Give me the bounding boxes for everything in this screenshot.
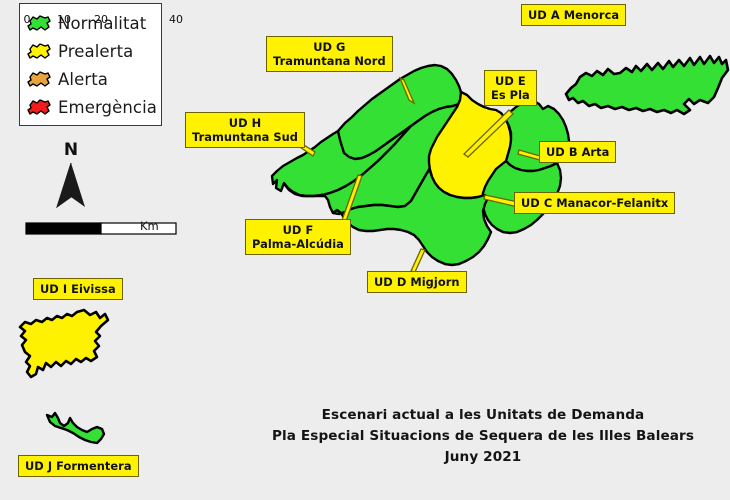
map-label-ud-c-manacor-felanitx[interactable]: UD C Manacor-Felanitx <box>514 192 675 214</box>
map-label-line: Es Pla <box>491 88 530 102</box>
map-title-line-2: Pla Especial Situacions de Sequera de le… <box>248 426 718 447</box>
map-label-line: Tramuntana Sud <box>192 130 298 144</box>
map-label-ud-j-formentera[interactable]: UD J Formentera <box>18 455 139 477</box>
map-label-ud-f-palma-alcudia[interactable]: UD F Palma-Alcúdia <box>245 219 351 255</box>
scalebar-tick-10: 10 <box>57 13 71 26</box>
map-label-ud-h-tramuntana-sud[interactable]: UD H Tramuntana Sud <box>185 112 305 148</box>
map-label-line: UD C Manacor-Felanitx <box>521 196 668 210</box>
scalebar-tick-40: 40 <box>169 13 183 26</box>
north-arrow-icon <box>47 141 95 213</box>
polygon-swatch-icon <box>26 42 52 60</box>
map-label-line: UD E <box>491 74 530 88</box>
map-label-ud-a-menorca[interactable]: UD A Menorca <box>521 4 626 26</box>
map-title-line-3: Juny 2021 <box>248 447 718 468</box>
map-label-line: UD B Arta <box>546 145 609 159</box>
map-label-ud-g-tramuntana-nord[interactable]: UD G Tramuntana Nord <box>266 36 393 72</box>
map-canvas: Normalitat Prealerta Alerta Emergència N <box>0 0 730 500</box>
region-eivissa[interactable] <box>20 310 108 377</box>
polygon-swatch-icon <box>26 98 52 116</box>
legend-item-emergencia[interactable]: Emergència <box>26 93 161 121</box>
legend-item-alerta[interactable]: Alerta <box>26 65 161 93</box>
map-label-ud-e-es-pla[interactable]: UD E Es Pla <box>484 70 537 106</box>
scalebar-unit-label: Km <box>140 219 159 233</box>
scalebar-tick-20: 20 <box>94 13 108 26</box>
map-label-line: UD D Migjorn <box>374 275 460 289</box>
legend-panel: Normalitat Prealerta Alerta Emergència <box>19 3 162 126</box>
map-label-line: UD I Eivissa <box>40 282 116 296</box>
region-formentera[interactable] <box>47 413 104 443</box>
map-label-line: UD J Formentera <box>25 459 132 473</box>
map-label-ud-i-eivissa[interactable]: UD I Eivissa <box>33 278 123 300</box>
map-title: Escenari actual a les Unitats de Demanda… <box>248 405 718 468</box>
map-label-line: Palma-Alcúdia <box>252 237 344 251</box>
map-label-ud-b-arta[interactable]: UD B Arta <box>539 141 616 163</box>
region-menorca[interactable] <box>566 56 728 114</box>
map-label-line: UD A Menorca <box>528 8 619 22</box>
map-label-line: UD H <box>192 116 298 130</box>
map-label-line: UD F <box>252 223 344 237</box>
map-label-line: Tramuntana Nord <box>273 54 386 68</box>
legend-label-alerta: Alerta <box>58 70 108 89</box>
legend-label-prealerta: Prealerta <box>58 42 133 61</box>
legend-label-emergencia: Emergència <box>58 98 157 117</box>
map-title-line-1: Escenari actual a les Unitats de Demanda <box>248 405 718 426</box>
map-label-ud-d-migjorn[interactable]: UD D Migjorn <box>367 271 467 293</box>
polygon-swatch-icon <box>26 70 52 88</box>
map-label-line: UD G <box>273 40 386 54</box>
scalebar-tick-0: 0 <box>24 13 31 26</box>
legend-item-prealerta[interactable]: Prealerta <box>26 37 161 65</box>
